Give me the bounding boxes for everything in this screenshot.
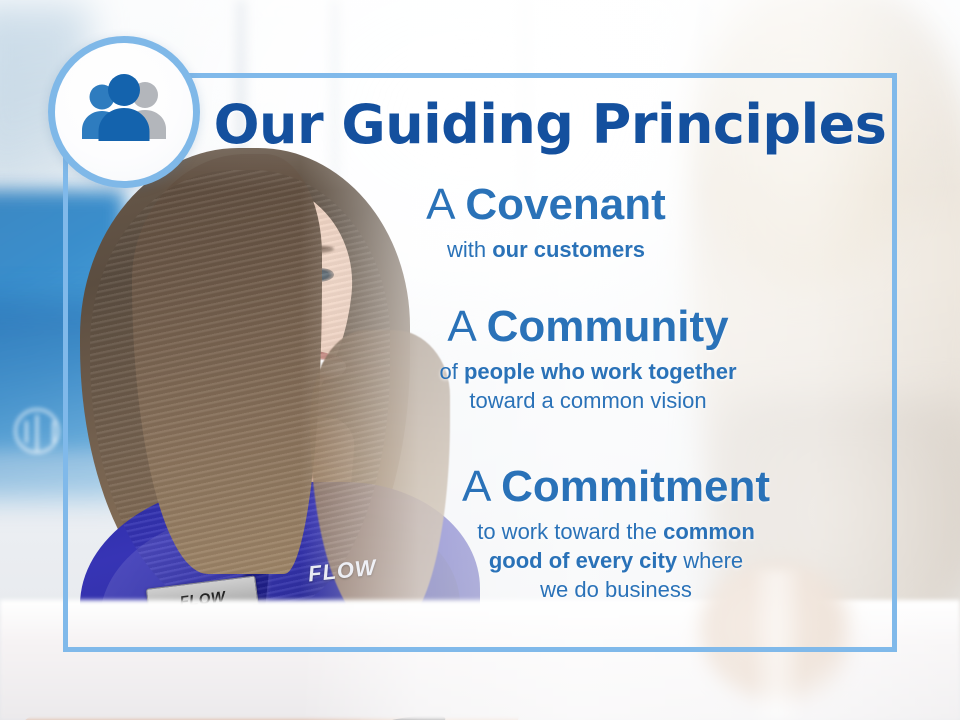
vw-logo-icon <box>14 408 60 454</box>
banner-canvas: FLOW AUTOMOTIVE FLOW <box>0 0 960 720</box>
hair-strand-texture <box>90 170 390 610</box>
group-people-icon <box>74 73 174 151</box>
glass-panel <box>754 570 800 720</box>
people-badge <box>48 36 200 188</box>
window-mullion <box>520 0 530 250</box>
